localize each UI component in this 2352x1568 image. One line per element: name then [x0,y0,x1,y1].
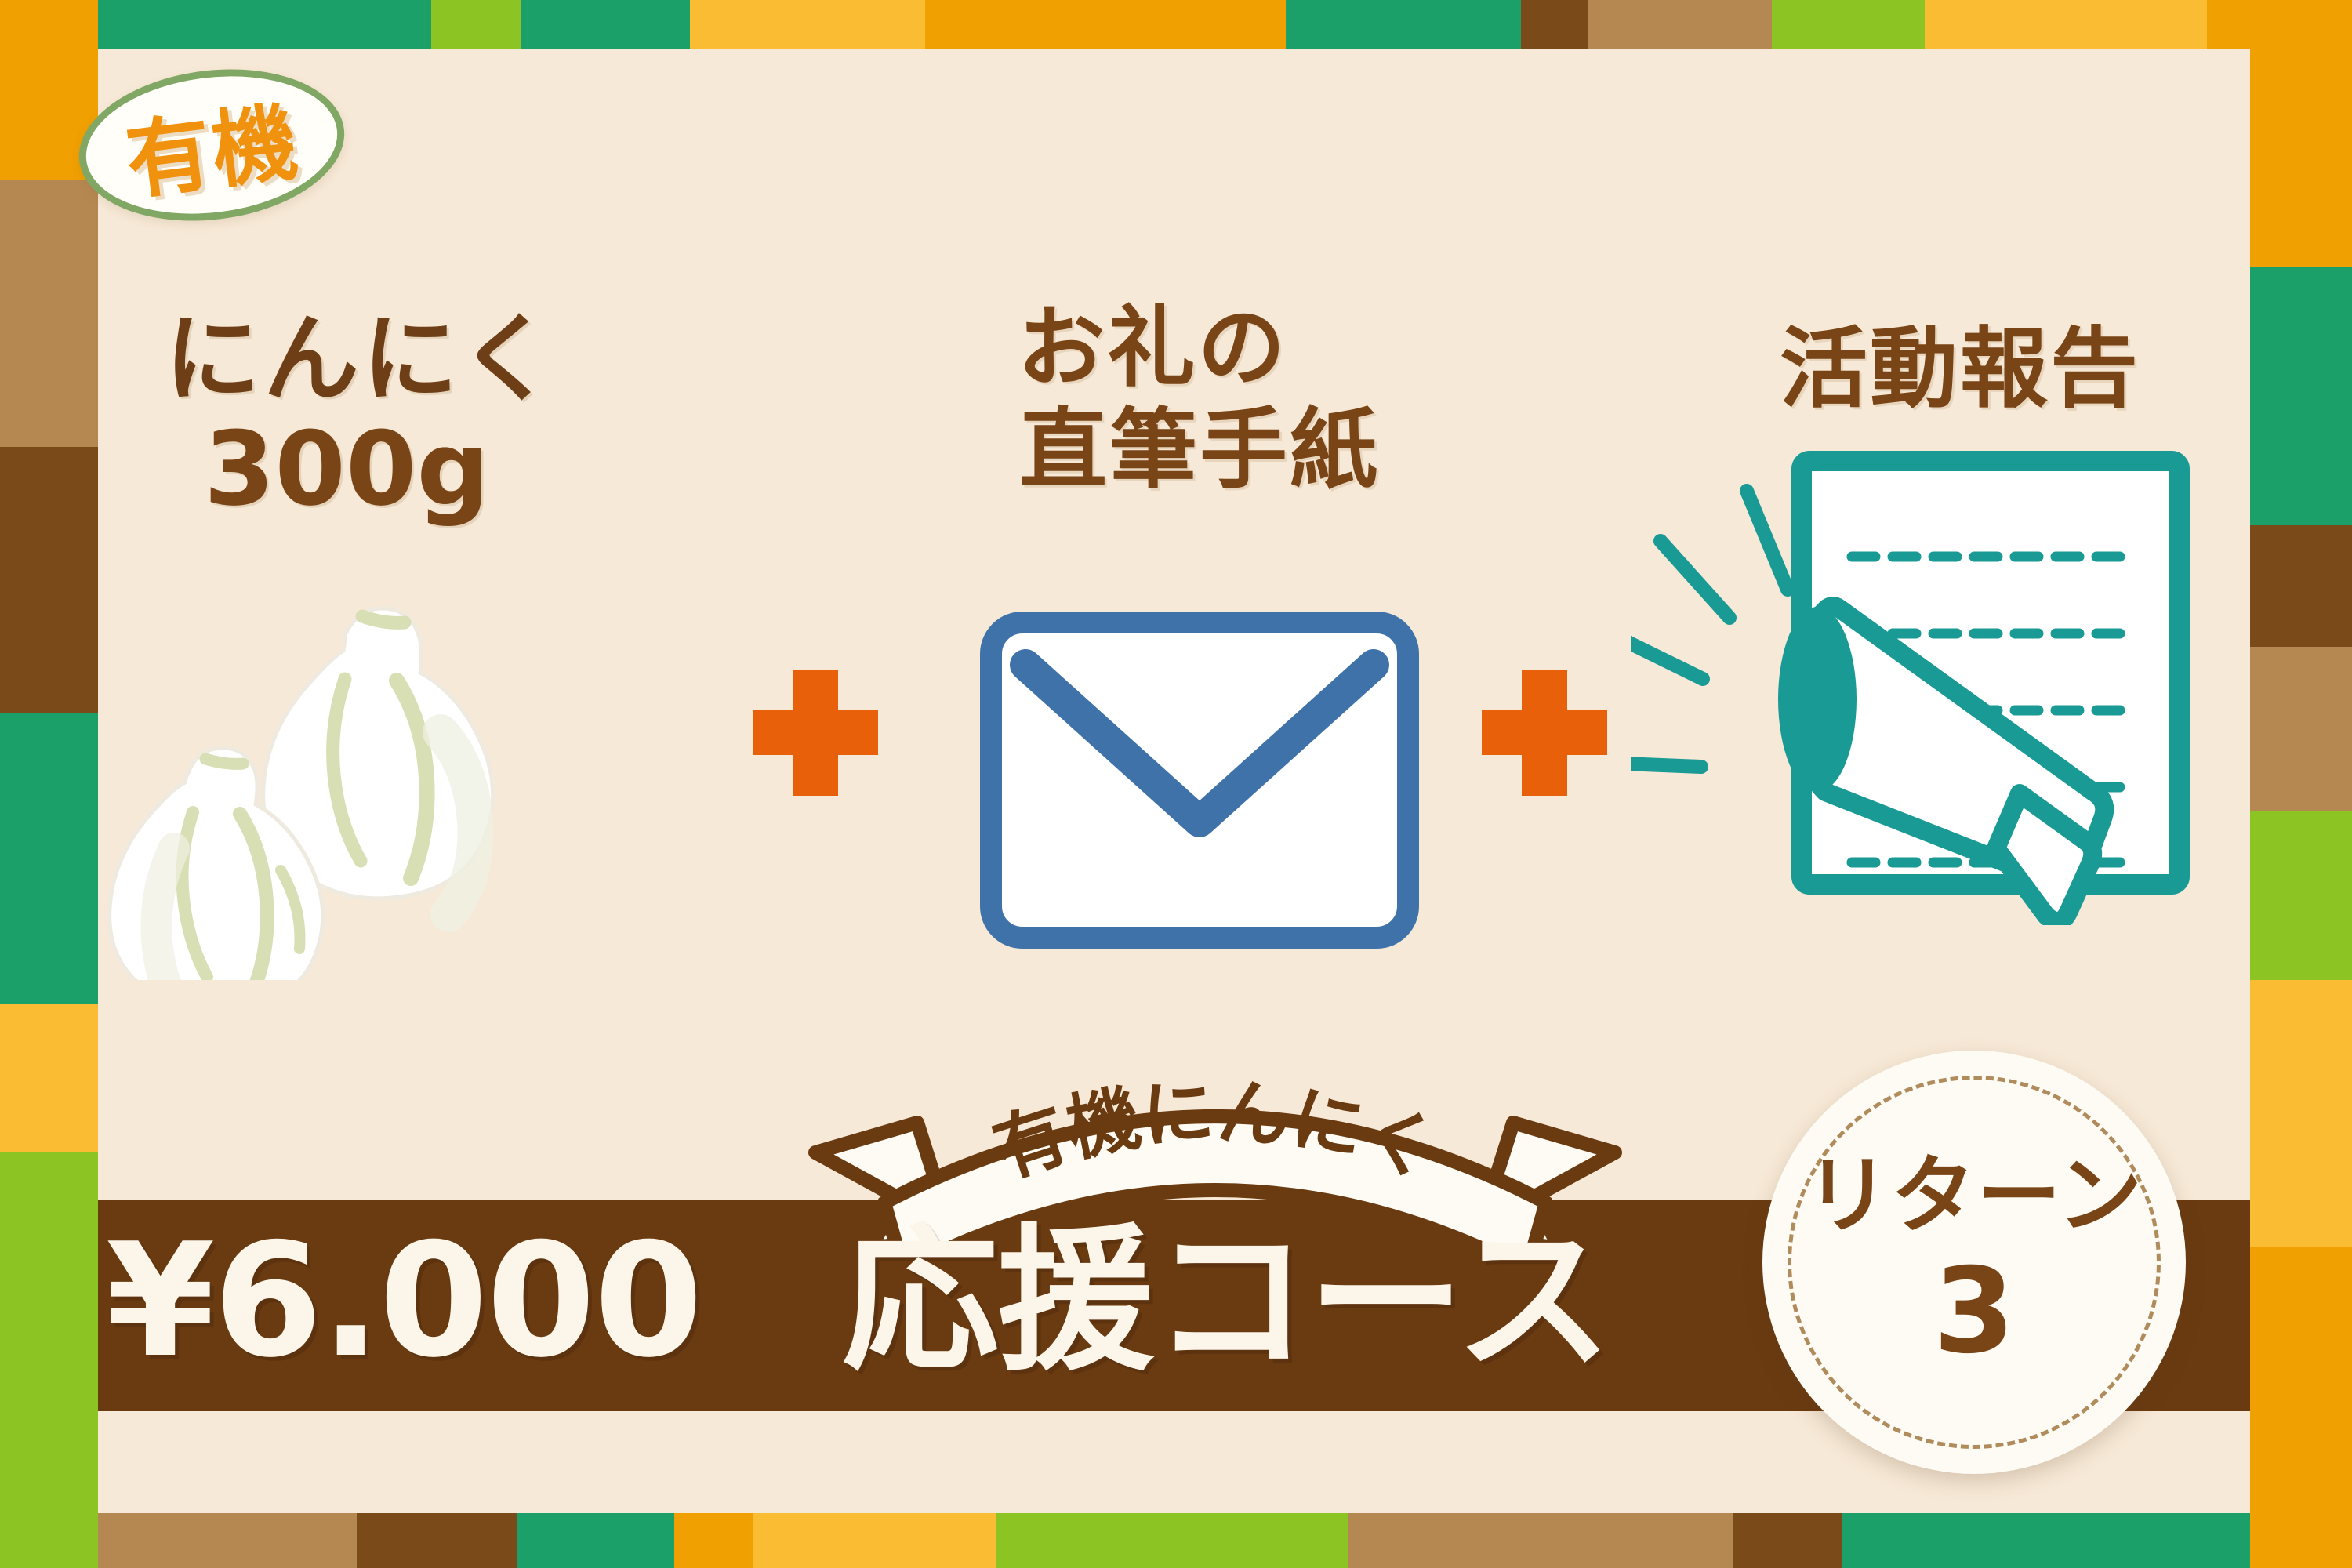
plus-icon [1482,670,1607,796]
return-badge-content: リターン 3 [1762,1051,2186,1474]
border-strip-right [2250,525,2352,647]
border-strip-top [1521,0,1588,53]
garlic-title: にんにく [118,306,713,413]
border-strip-bottom [674,1513,753,1568]
border-strip-top [94,0,431,53]
garlic-weight: 300g [118,418,713,520]
border-strip-top [1286,0,1521,53]
border-strip-right [2250,811,2352,980]
border-strip-bottom [996,1513,1348,1568]
border-strip-top [1925,0,2207,53]
garlic-bulbs-icon [86,541,635,980]
border-strip-right [2250,980,2352,1247]
border-strip-left [0,713,98,1004]
price-value: ¥6.000 [106,1210,702,1392]
border-strip-top [690,0,925,53]
border-strip-left [0,180,98,447]
envelope-icon [980,612,1419,949]
border-strip-bottom [1842,1513,2281,1568]
border-strip-top [1772,0,1925,53]
border-strip-bottom [1348,1513,1733,1568]
letter-title: お礼の 直筆手紙 [925,298,1474,502]
border-strip-top [925,0,1286,53]
border-strip-top [521,0,690,53]
plus-icon [753,670,878,796]
border-strip-bottom [517,1513,674,1568]
border-strip-bottom [357,1513,517,1568]
return-badge-label: リターン [1806,1154,2143,1239]
border-strip-left [0,447,98,713]
border-strip-bottom [94,1513,357,1568]
border-strip-top [431,0,521,53]
border-strip-left [0,1152,98,1568]
border-strip-top [1588,0,1772,53]
letter-title-line1: お礼の [925,298,1474,400]
item-report: 活動報告 [1717,298,2203,425]
item-garlic: にんにく 300g [118,306,713,520]
border-strip-bottom [753,1513,996,1568]
item-letter: お礼の 直筆手紙 [925,298,1474,502]
megaphone-report-icon [1631,439,2211,925]
return-badge-number: 3 [1933,1253,2015,1370]
report-title: 活動報告 [1717,298,2203,425]
border-strip-right [2250,1247,2352,1568]
border-strip-right [2250,0,2352,267]
border-strip-right [2250,647,2352,811]
letter-title-line2: 直筆手紙 [1019,399,1380,501]
price-band-text: ¥6.000 応援コース [106,1211,1610,1392]
border-strip-bottom [1733,1513,1842,1568]
return-badge: リターン 3 [1762,1051,2186,1474]
border-strip-right [2250,267,2352,525]
border-strip-left [0,1004,98,1152]
course-label: 応援コース [842,1210,1610,1392]
